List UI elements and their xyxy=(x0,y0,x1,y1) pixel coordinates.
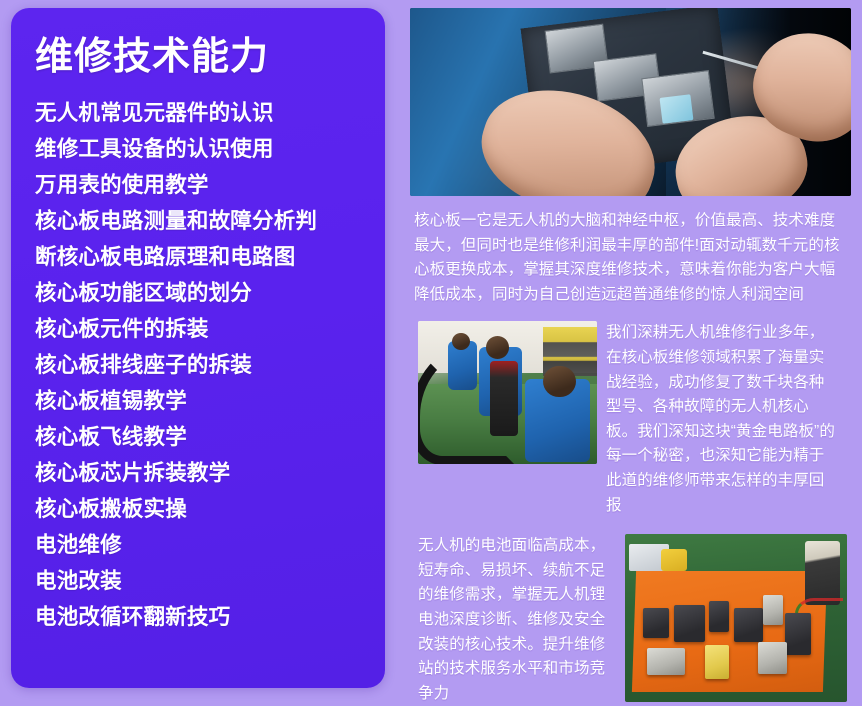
photo-detail-battery-cell xyxy=(785,613,812,655)
workshop-photo xyxy=(418,321,597,464)
list-item: 核心板功能区域的划分 xyxy=(35,275,363,311)
photo-detail-battery-cell xyxy=(734,608,763,642)
list-item: 核心板电路测量和故障分析判 xyxy=(35,203,363,239)
list-item: 断核心板电路原理和电路图 xyxy=(35,239,363,275)
photo-detail-chip xyxy=(660,95,694,125)
skills-card: 维修技术能力 无人机常见元器件的认识 维修工具设备的认识使用 万用表的使用教学 … xyxy=(11,8,385,688)
photo-detail-lipo-cell xyxy=(705,645,729,679)
photo-detail-multimeter xyxy=(805,541,841,605)
list-item: 核心板芯片拆装教学 xyxy=(35,455,363,491)
right-column: 核心板一它是无人机的大脑和神经中枢，价值最高、技术难度最大，但同时也是维修利润最… xyxy=(404,0,862,698)
photo-detail-battery-cell xyxy=(674,605,705,642)
photo-detail-flux-jar xyxy=(661,549,688,571)
list-item: 万用表的使用教学 xyxy=(35,167,363,203)
battery-row: 无人机的电池面临高成本，短寿命、易损坏、续航不足的维修需求，掌握无人机锂电池深度… xyxy=(418,534,854,706)
list-item: 核心板元件的拆装 xyxy=(35,311,363,347)
poster-root: 维修技术能力 无人机常见元器件的认识 维修工具设备的认识使用 万用表的使用教学 … xyxy=(0,0,862,698)
photo-detail-battery-cell xyxy=(709,601,729,631)
list-item: 核心板飞线教学 xyxy=(35,419,363,455)
photo-detail-battery-cell xyxy=(763,595,783,625)
list-item: 核心板植锡教学 xyxy=(35,383,363,419)
photo-detail-battery-cell xyxy=(758,642,787,674)
photo-detail-battery-cell xyxy=(647,648,685,675)
page-title: 维修技术能力 xyxy=(35,36,363,79)
list-item: 核心板搬板实操 xyxy=(35,491,363,527)
battery-photo xyxy=(625,534,847,702)
left-column: 维修技术能力 无人机常见元器件的认识 维修工具设备的认识使用 万用表的使用教学 … xyxy=(0,0,404,698)
list-item: 电池改装 xyxy=(35,563,363,599)
list-item: 电池改循环翻新技巧 xyxy=(35,599,363,635)
photo-detail-technician-head xyxy=(543,366,575,397)
photo-detail-battery-cell xyxy=(643,608,670,638)
list-item: 无人机常见元器件的认识 xyxy=(35,95,363,131)
paragraph-battery: 无人机的电池面临高成本，短寿命、易损坏、续航不足的维修需求，掌握无人机锂电池深度… xyxy=(418,534,612,706)
list-item: 核心板排线座子的拆装 xyxy=(35,347,363,383)
circuit-board-photo xyxy=(410,8,851,196)
photo-detail-lamp-arm xyxy=(418,344,515,464)
list-item: 维修工具设备的认识使用 xyxy=(35,131,363,167)
list-item: 电池维修 xyxy=(35,527,363,563)
workshop-row: 我们深耕无人机维修行业多年，在核心板维修领域积累了海量实战经验，成功修复了数千块… xyxy=(418,321,854,518)
skills-list: 无人机常见元器件的认识 维修工具设备的认识使用 万用表的使用教学 核心板电路测量… xyxy=(35,95,363,635)
paragraph-experience: 我们深耕无人机维修行业多年，在核心板维修领域积累了海量实战经验，成功修复了数千块… xyxy=(606,321,838,518)
paragraph-core-board: 核心板一它是无人机的大脑和神经中枢，价值最高、技术难度最大，但同时也是维修利润最… xyxy=(414,209,844,307)
